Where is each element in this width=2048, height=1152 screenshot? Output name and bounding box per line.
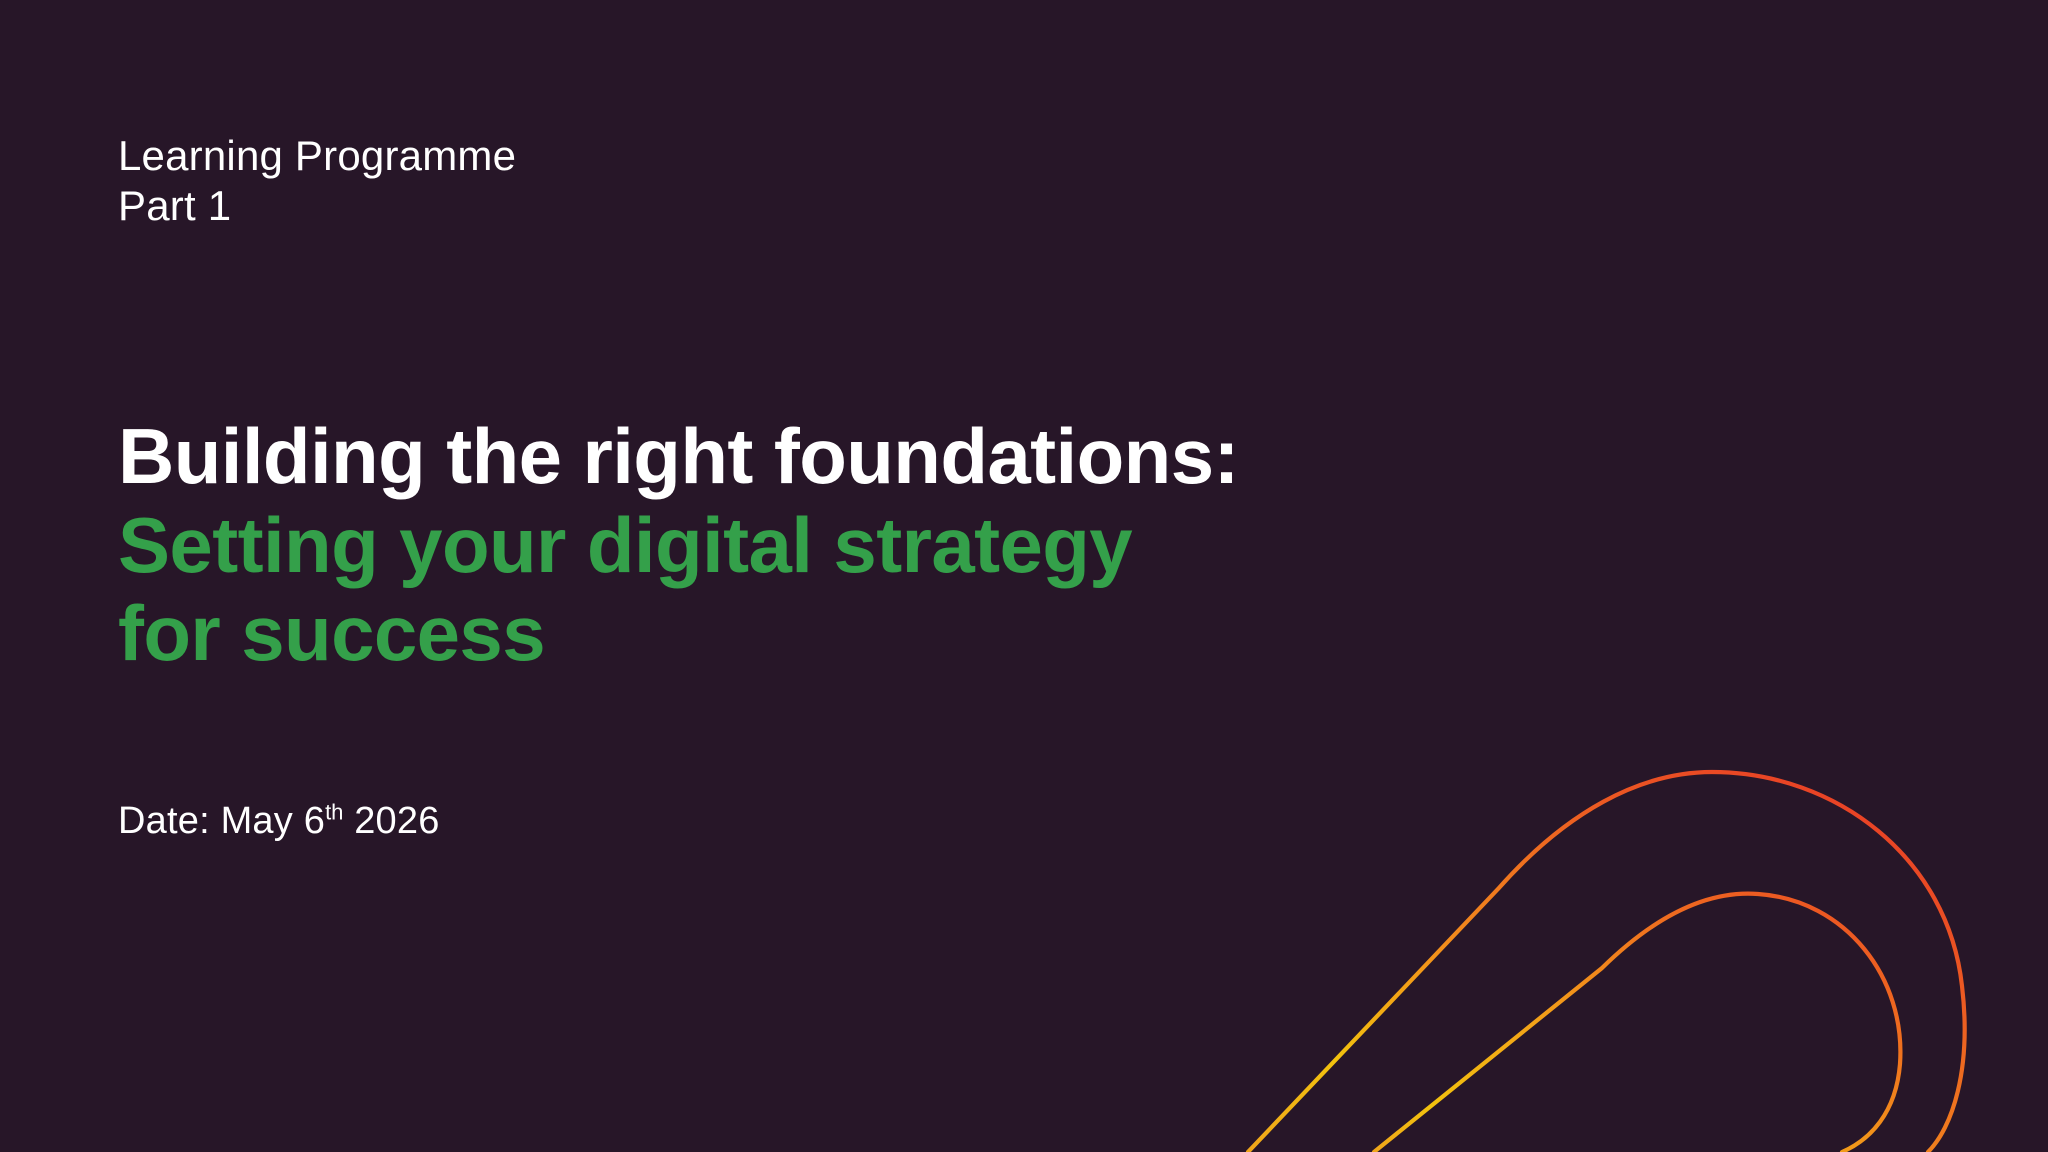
headline-block: Building the right foundations: Setting … xyxy=(118,412,1678,678)
eyebrow-text: Learning Programme Part 1 xyxy=(118,131,516,231)
date-line: Date: May 6th 2026 xyxy=(118,800,440,843)
date-label: Date: May 6 xyxy=(118,800,325,842)
headline-line-2: Setting your digital strategy xyxy=(118,501,1678,590)
headline-line-1: Building the right foundations: xyxy=(118,412,1678,501)
ribbon-curve-inner xyxy=(1374,894,1900,1152)
title-slide: Learning Programme Part 1 Building the r… xyxy=(0,0,2048,1152)
date-ordinal-suffix: th xyxy=(325,799,343,824)
ribbon-curve-outer xyxy=(1248,772,1965,1152)
date-year: 2026 xyxy=(343,800,439,842)
headline-line-3: for success xyxy=(118,589,1678,678)
